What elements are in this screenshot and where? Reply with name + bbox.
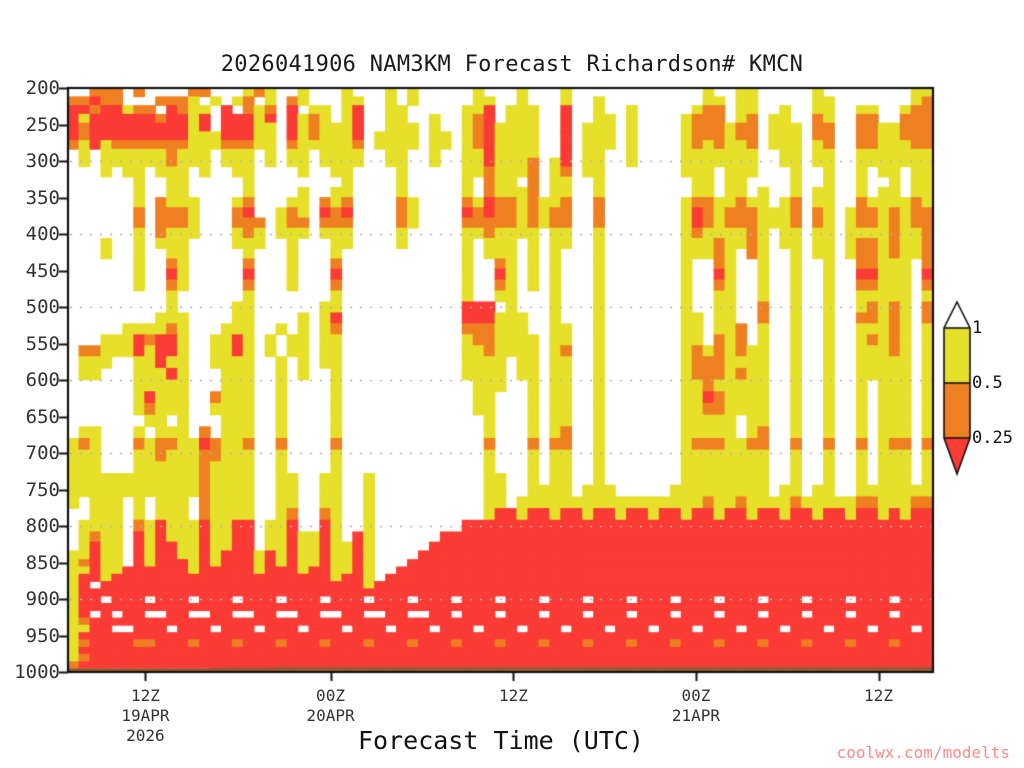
y-tick-label: 900 (26, 588, 60, 610)
colorbar-tick-label: 1 (972, 318, 982, 338)
x-tick-line: 21APR (672, 706, 720, 726)
richardson-number-heatmap (0, 0, 1024, 768)
y-tick-label: 850 (26, 552, 60, 574)
y-tick-label: 750 (26, 479, 60, 501)
y-tick-label: 400 (26, 223, 60, 245)
x-tick-line: 00Z (672, 686, 720, 706)
x-tick-line: 12Z (499, 686, 528, 706)
y-tick-label: 950 (26, 625, 60, 647)
y-tick-label: 800 (26, 515, 60, 537)
watermark: coolwx.com/modelts (837, 743, 1010, 762)
x-tick-line: 12Z (121, 686, 169, 706)
y-tick-label: 350 (26, 187, 60, 209)
x-tick-label: 12Z (499, 686, 528, 706)
x-axis-title: Forecast Time (UTC) (68, 726, 934, 755)
y-tick-label: 550 (26, 333, 60, 355)
y-tick-label: 200 (26, 77, 60, 99)
colorbar-tick-label: 0.5 (972, 373, 1003, 393)
y-tick-label: 700 (26, 442, 60, 464)
y-tick-label: 650 (26, 406, 60, 428)
x-tick-line: 19APR (121, 706, 169, 726)
y-axis-ticklabels: 2002503003504004505005506006507007508008… (0, 0, 60, 768)
y-tick-label: 600 (26, 369, 60, 391)
y-tick-label: 300 (26, 150, 60, 172)
colorbar-tick-label: 0.25 (972, 428, 1013, 448)
x-tick-label: 12Z (864, 686, 893, 706)
colorbar: 10.50.25 (938, 298, 1024, 480)
y-tick-label: 450 (26, 260, 60, 282)
y-tick-label: 500 (26, 296, 60, 318)
y-tick-label: 1000 (14, 661, 60, 683)
x-tick-line: 20APR (306, 706, 354, 726)
chart-page: 2026041906 NAM3KM Forecast Richardson# K… (0, 0, 1024, 768)
x-tick-label: 00Z20APR (306, 686, 354, 726)
x-tick-line: 00Z (306, 686, 354, 706)
y-tick-label: 250 (26, 114, 60, 136)
x-tick-line: 12Z (864, 686, 893, 706)
x-tick-label: 00Z21APR (672, 686, 720, 726)
